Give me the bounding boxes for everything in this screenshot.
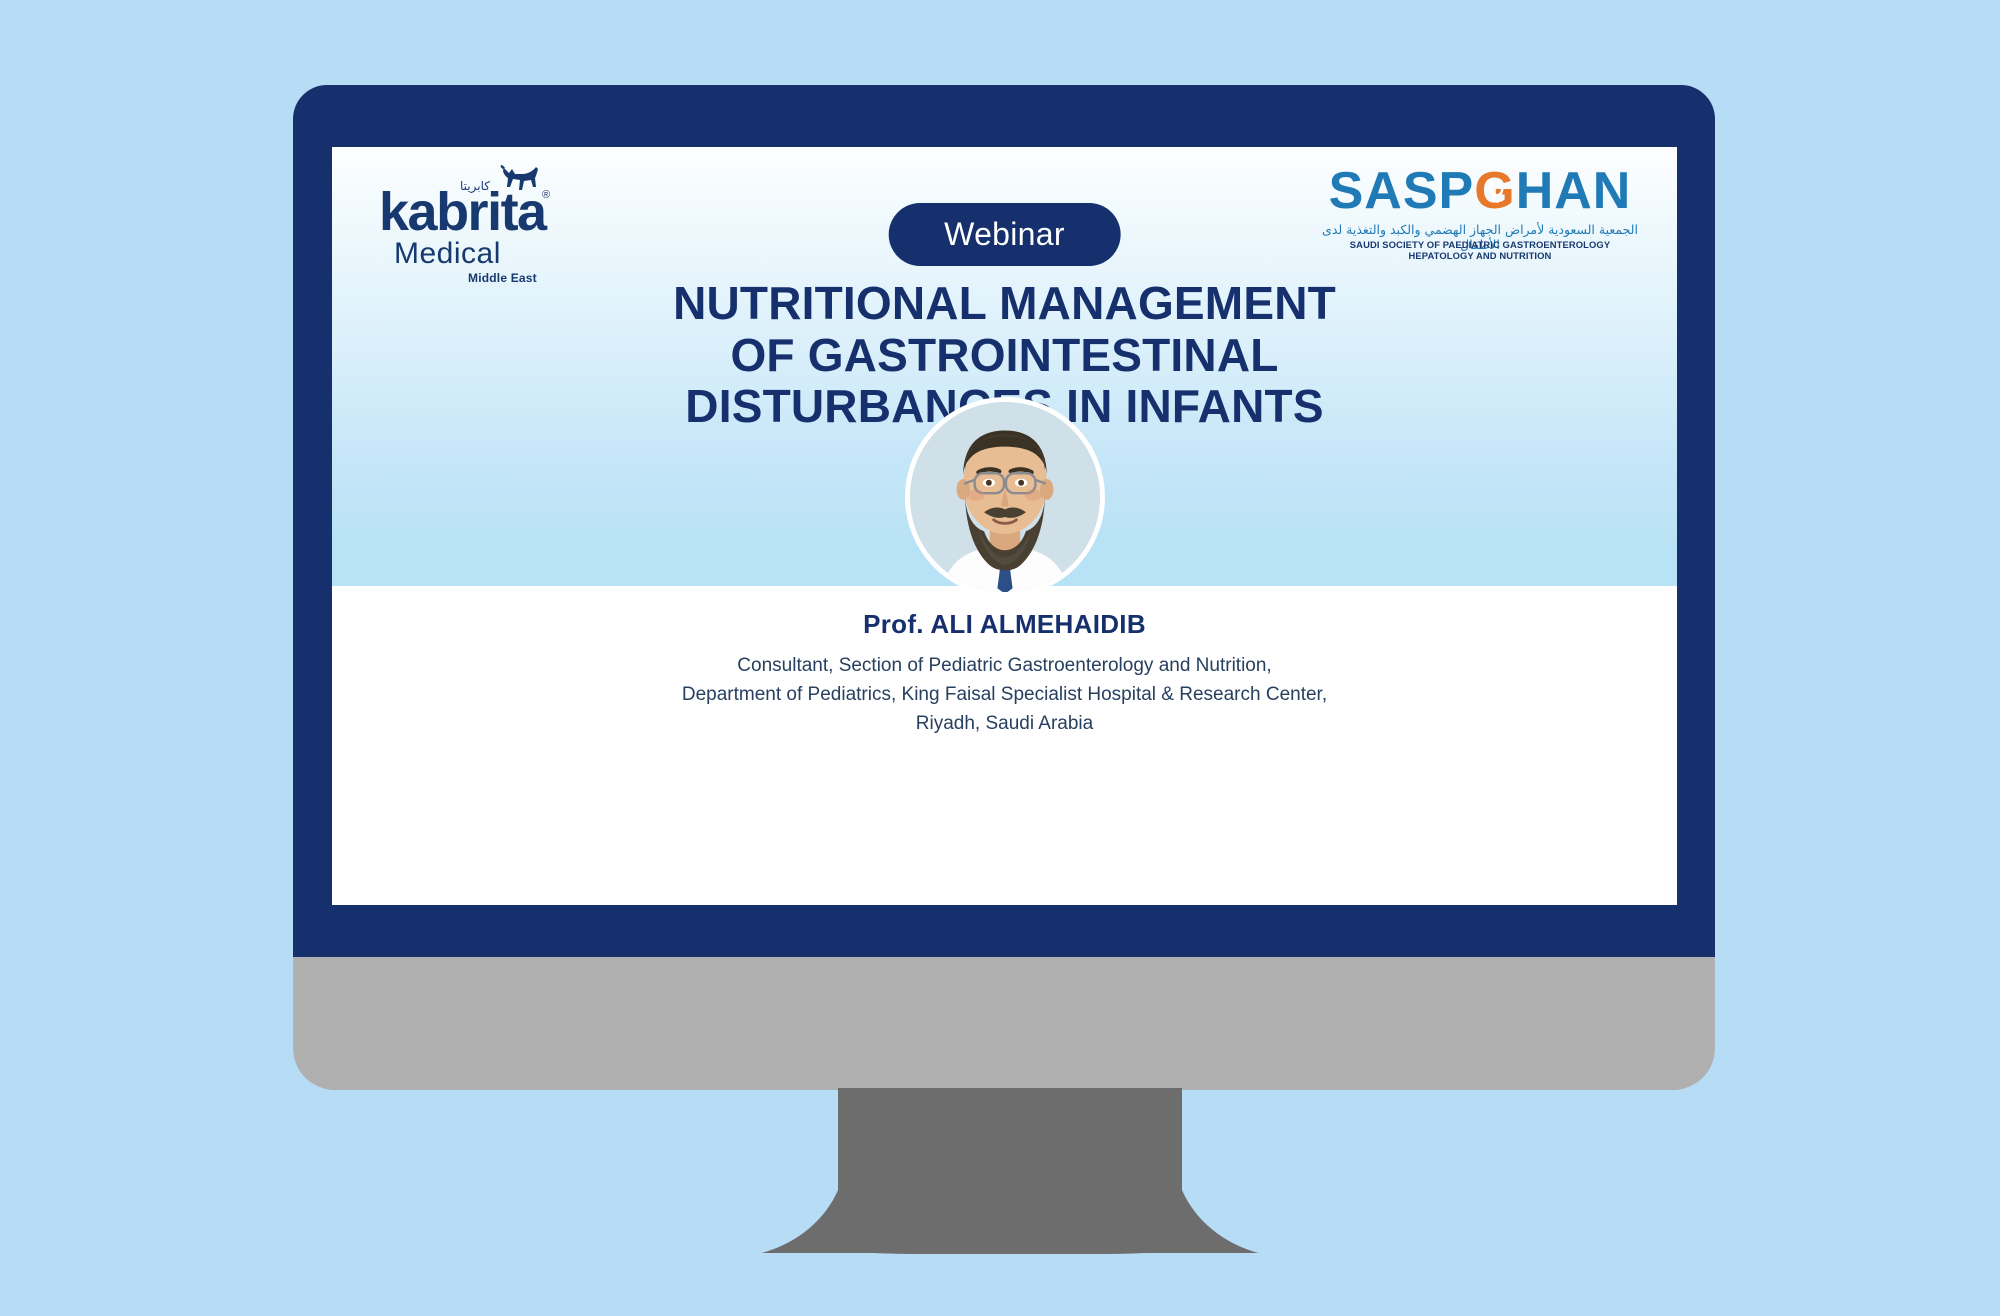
kabrita-logo: كابريتا kabrita ® Medical Middle East: [374, 161, 574, 276]
monitor-stand-foot: [832, 1240, 1188, 1254]
speaker-avatar: [905, 397, 1105, 597]
saspghan-english-subtitle: SAUDI SOCIETY OF PAEDIATRIC GASTROENTERO…: [1321, 240, 1640, 263]
saspghan-word-part2: HAN: [1516, 162, 1632, 220]
saspghan-word-part1: SASP: [1329, 162, 1475, 220]
title-line-2: OF GASTROINTESTINAL: [332, 330, 1677, 382]
screenshot-stage: كابريتا kabrita ® Medical Middle East SA…: [0, 0, 2000, 1316]
kabrita-subtitle: Medical: [394, 239, 501, 269]
kabrita-wordmark: kabrita: [379, 185, 546, 239]
title-line-1: NUTRITIONAL MANAGEMENT: [332, 278, 1677, 330]
registered-mark-icon: ®: [542, 189, 550, 201]
affiliation-line-3: Riyadh, Saudi Arabia: [332, 710, 1677, 739]
monitor-chin: [293, 957, 1715, 1090]
monitor-screen: كابريتا kabrita ® Medical Middle East SA…: [332, 147, 1677, 905]
speaker-name: Prof. ALI ALMEHAIDIB: [332, 609, 1677, 640]
saspghan-g-letter: G: [1474, 162, 1515, 220]
saspghan-wordmark: SASPG HAN: [1319, 164, 1641, 219]
speaker-affiliation: Consultant, Section of Pediatric Gastroe…: [332, 652, 1677, 739]
webinar-badge: Webinar: [888, 203, 1121, 266]
affiliation-line-2: Department of Pediatrics, King Faisal Sp…: [332, 681, 1677, 710]
monitor-stand-neck: [838, 1088, 1182, 1253]
saspghan-logo: SASPG HAN الجمعية السعودية لأمراض الجهاز…: [1319, 164, 1641, 262]
affiliation-line-1: Consultant, Section of Pediatric Gastroe…: [332, 652, 1677, 681]
stomach-icon: [1480, 164, 1510, 219]
